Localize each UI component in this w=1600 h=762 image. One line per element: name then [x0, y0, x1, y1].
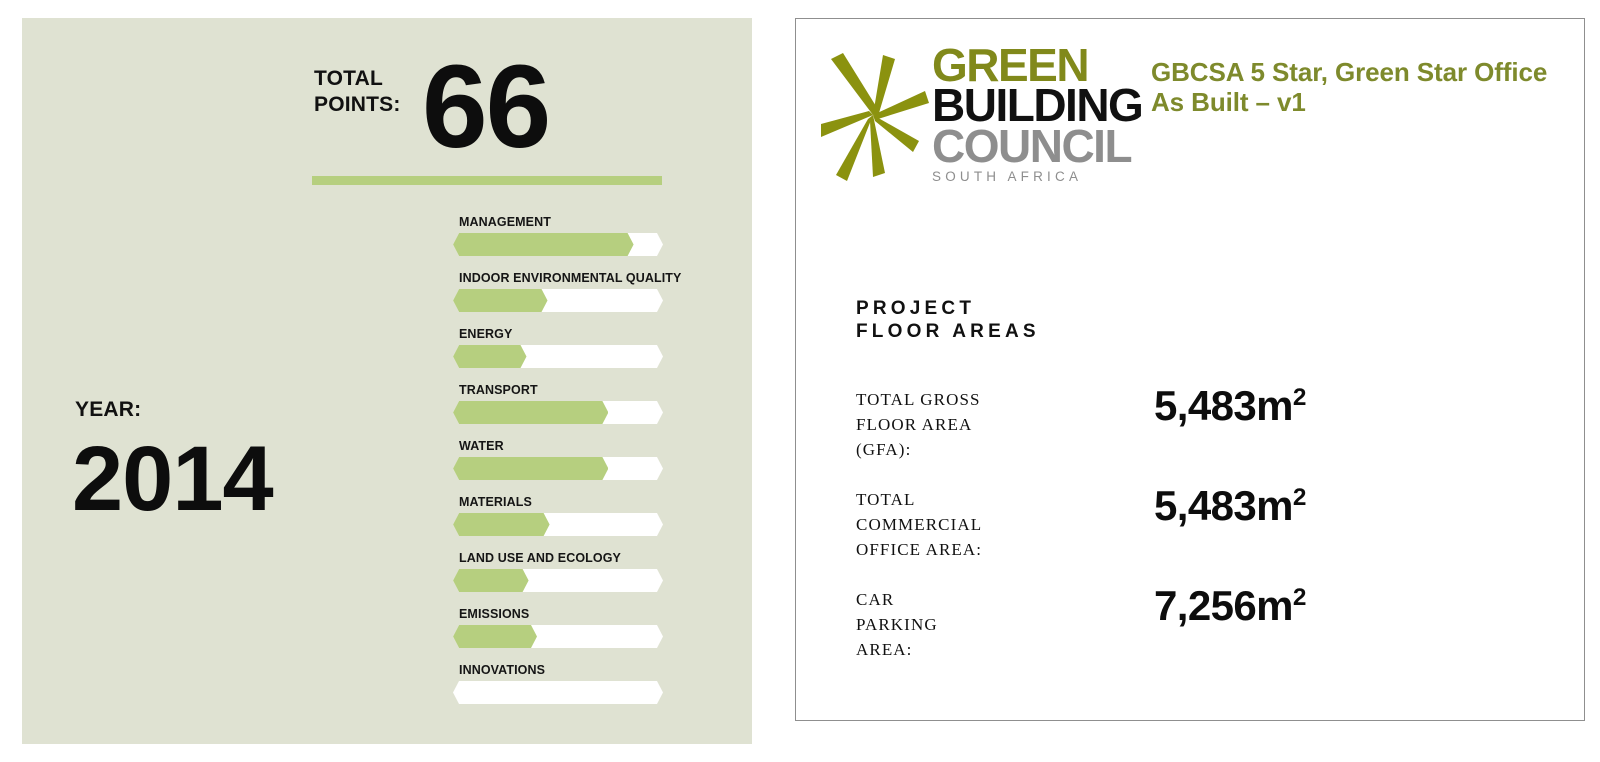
- category-score-chart: MANAGEMENT INDOOR ENVIRONMENTAL QUALITY …: [436, 215, 686, 719]
- floor-area-row: TOTAL GROSS FLOOR AREA (GFA): 5,483m2: [856, 383, 1476, 483]
- bar-label: LAND USE AND ECOLOGY: [459, 551, 621, 565]
- total-points-label-line1: TOTAL: [314, 66, 401, 92]
- label-line: OFFICE AREA:: [856, 537, 1106, 562]
- bar-track: [453, 233, 663, 256]
- unit-exponent: 2: [1293, 384, 1306, 411]
- floor-areas-heading: PROJECT FLOOR AREAS: [856, 297, 1040, 343]
- rating-title: GBCSA 5 Star, Green Star Office As Built…: [1151, 57, 1551, 118]
- bar-label: TRANSPORT: [459, 383, 538, 397]
- floor-areas-heading-line1: PROJECT: [856, 297, 1040, 320]
- bar-fill: [453, 289, 548, 312]
- floor-area-value: 5,483m2: [1154, 483, 1306, 528]
- bar-label: ENERGY: [459, 327, 512, 341]
- wordmark-council: COUNCIL: [932, 126, 1142, 166]
- bar-label: INDOOR ENVIRONMENTAL QUALITY: [459, 271, 681, 285]
- chart-row: MANAGEMENT: [436, 215, 686, 271]
- bar-label: EMISSIONS: [459, 607, 529, 621]
- total-points-value: 66: [422, 48, 682, 166]
- floor-area-label: TOTAL COMMERCIAL OFFICE AREA:: [856, 487, 1106, 562]
- chart-row: TRANSPORT: [436, 383, 686, 439]
- value-number: 7,256m: [1154, 582, 1293, 629]
- year-label: YEAR:: [75, 398, 141, 422]
- label-line: TOTAL GROSS: [856, 387, 1106, 412]
- project-details-panel: GREEN BUILDING COUNCIL SOUTH AFRICA GBCS…: [795, 18, 1585, 721]
- label-line: AREA:: [856, 637, 1106, 662]
- floor-area-row: TOTAL COMMERCIAL OFFICE AREA: 5,483m2: [856, 483, 1476, 583]
- floor-area-label: TOTAL GROSS FLOOR AREA (GFA):: [856, 387, 1106, 462]
- bar-label: WATER: [459, 439, 504, 453]
- bar-fill: [453, 513, 550, 536]
- label-line: COMMERCIAL: [856, 512, 1106, 537]
- score-summary-panel: TOTAL POINTS: 66 YEAR: 2014 MANAGEMENT I…: [22, 18, 752, 744]
- gbcsa-wordmark: GREEN BUILDING COUNCIL SOUTH AFRICA: [932, 45, 1142, 184]
- gbcsa-starburst-logo-icon: [821, 53, 929, 195]
- total-points-label-line2: POINTS:: [314, 92, 401, 118]
- label-line: TOTAL: [856, 487, 1106, 512]
- bar-track: [453, 457, 663, 480]
- chart-row: ENERGY: [436, 327, 686, 383]
- bar-label: MANAGEMENT: [459, 215, 551, 229]
- floor-area-value: 5,483m2: [1154, 383, 1306, 428]
- label-line: FLOOR AREA: [856, 412, 1106, 437]
- bar-fill: [453, 625, 537, 648]
- total-points-label: TOTAL POINTS:: [314, 66, 401, 117]
- floor-areas-list: TOTAL GROSS FLOOR AREA (GFA): 5,483m2 TO…: [856, 383, 1476, 683]
- label-line: PARKING: [856, 612, 1106, 637]
- label-line: CAR: [856, 587, 1106, 612]
- year-value: 2014: [72, 433, 273, 525]
- label-line: (GFA):: [856, 437, 1106, 462]
- gbcsa-logo: GREEN BUILDING COUNCIL SOUTH AFRICA: [816, 47, 1136, 197]
- bar-label: MATERIALS: [459, 495, 532, 509]
- unit-exponent: 2: [1293, 584, 1306, 611]
- bar-fill: [453, 401, 608, 424]
- floor-area-row: CAR PARKING AREA: 7,256m2: [856, 583, 1476, 683]
- chart-row: WATER: [436, 439, 686, 495]
- infographic-root: TOTAL POINTS: 66 YEAR: 2014 MANAGEMENT I…: [0, 0, 1600, 762]
- chart-row: INNOVATIONS: [436, 663, 686, 719]
- floor-area-label: CAR PARKING AREA:: [856, 587, 1106, 662]
- value-number: 5,483m: [1154, 482, 1293, 529]
- floor-areas-heading-line2: FLOOR AREAS: [856, 320, 1040, 343]
- bar-track: [453, 289, 663, 312]
- bar-fill: [453, 345, 527, 368]
- bar-track: [453, 513, 663, 536]
- bar-track: [453, 569, 663, 592]
- value-number: 5,483m: [1154, 382, 1293, 429]
- bar-track: [453, 625, 663, 648]
- bar-track: [453, 345, 663, 368]
- bar-track: [453, 401, 663, 424]
- unit-exponent: 2: [1293, 484, 1306, 511]
- chart-row: EMISSIONS: [436, 607, 686, 663]
- chart-row: MATERIALS: [436, 495, 686, 551]
- bar-track: [453, 681, 663, 704]
- bar-fill: [453, 457, 608, 480]
- bar-fill: [453, 569, 529, 592]
- chart-row: LAND USE AND ECOLOGY: [436, 551, 686, 607]
- floor-area-value: 7,256m2: [1154, 583, 1306, 628]
- chart-row: INDOOR ENVIRONMENTAL QUALITY: [436, 271, 686, 327]
- points-divider: [312, 176, 662, 185]
- bar-label: INNOVATIONS: [459, 663, 545, 677]
- bar-fill: [453, 233, 634, 256]
